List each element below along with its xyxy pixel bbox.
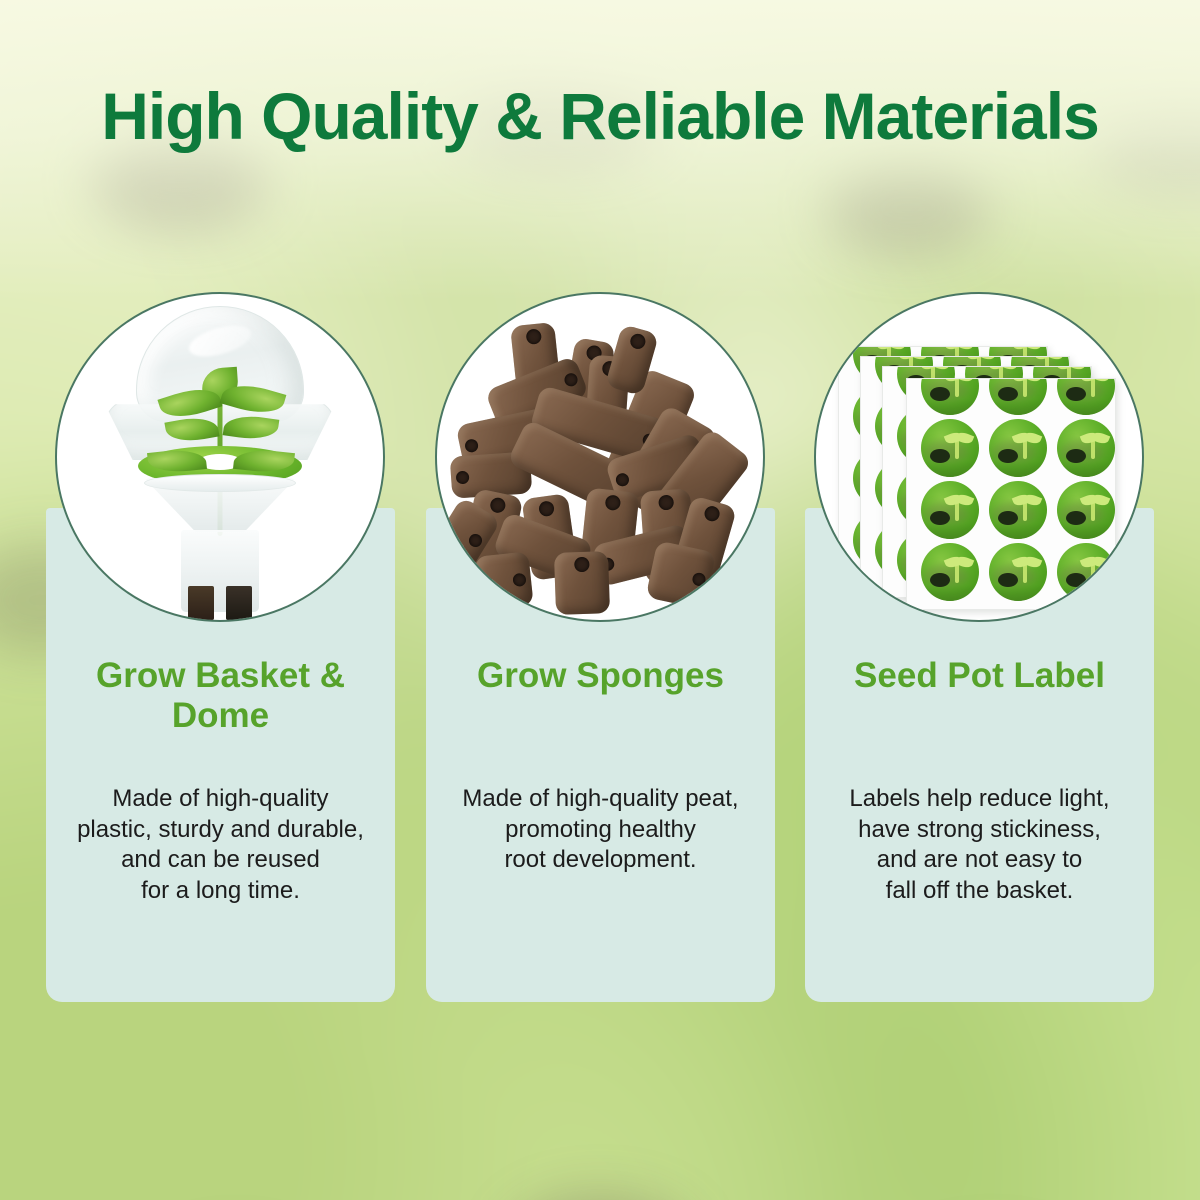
seed-pot-label-image	[814, 292, 1144, 622]
seed-pot-label-sticker	[989, 419, 1047, 477]
seed-pot-label-sticker	[989, 481, 1047, 539]
grow-basket-and-dome-image	[55, 292, 385, 622]
sponge-pile-illustration	[437, 294, 763, 620]
label-grass-icon	[989, 399, 1047, 415]
label-sprout-stem-icon	[1023, 378, 1027, 397]
label-sheet	[906, 378, 1116, 610]
seed-pot-label-sticker	[921, 543, 979, 601]
card-heading: Grow Sponges	[426, 656, 775, 696]
page-title: High Quality & Reliable Materials	[0, 78, 1200, 154]
label-grass-icon	[921, 585, 979, 601]
label-grass-icon	[1057, 585, 1115, 601]
label-grass-icon	[989, 461, 1047, 477]
label-grass-icon	[1057, 399, 1115, 415]
soil-window-icon	[226, 586, 252, 620]
card-body-text: Made of high-quality plastic, sturdy and…	[60, 784, 381, 907]
seed-pot-label-sticker	[1057, 543, 1115, 601]
seed-pot-label-sticker	[921, 419, 979, 477]
seed-pot-label-sticker	[921, 378, 979, 415]
label-grass-icon	[921, 399, 979, 415]
label-sprout-stem-icon	[955, 378, 959, 397]
label-grass-icon	[921, 523, 979, 539]
label-sheet-stack-illustration	[816, 294, 1142, 620]
card-heading: Grow Basket & Dome	[46, 656, 395, 736]
card-body-text: Made of high-quality peat, promoting hea…	[440, 784, 761, 876]
seed-pot-label-sticker	[1057, 481, 1115, 539]
card-body-text: Labels help reduce light, have strong st…	[819, 784, 1140, 907]
seed-pot-label-sticker	[1057, 419, 1115, 477]
grow-sponges-image	[435, 292, 765, 622]
soil-window-icon	[188, 586, 214, 620]
sponge-plug-icon	[554, 551, 610, 615]
grow-basket-illustration	[57, 294, 383, 620]
label-sprout-stem-icon	[1091, 378, 1095, 397]
label-grass-icon	[1057, 461, 1115, 477]
basket-rim-icon	[144, 474, 296, 492]
seed-pot-label-sticker	[921, 481, 979, 539]
label-grass-icon	[989, 585, 1047, 601]
sponge-plug-icon	[646, 540, 717, 609]
label-grass-icon	[921, 461, 979, 477]
label-grass-icon	[1057, 523, 1115, 539]
seed-pot-label-sticker	[989, 378, 1047, 415]
seed-pot-label-sticker	[1057, 378, 1115, 415]
seed-pot-label-sticker	[989, 543, 1047, 601]
card-heading: Seed Pot Label	[805, 656, 1154, 696]
label-grass-icon	[989, 523, 1047, 539]
sponge-plug-icon	[474, 551, 533, 610]
